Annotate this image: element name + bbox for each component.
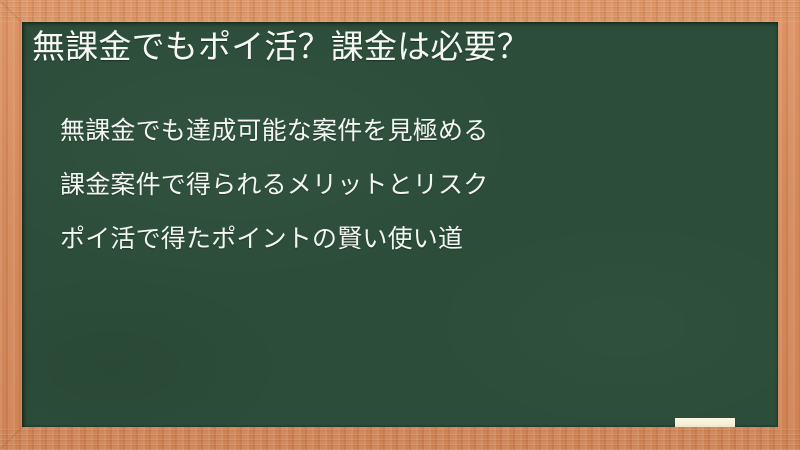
frame-miter-bottom-left bbox=[0, 425, 24, 450]
frame-grain-top bbox=[0, 0, 800, 22]
frame-miter-top-left bbox=[0, 0, 24, 25]
slide-bullet-list: 無課金でも達成可能な案件を見極める 課金案件で得られるメリットとリスク ポイ活で… bbox=[60, 104, 750, 266]
bullet-item-2: 課金案件で得られるメリットとリスク bbox=[60, 158, 750, 212]
frame-grain-bottom bbox=[0, 427, 800, 450]
bullet-item-3: ポイ活で得たポイントの賢い使い道 bbox=[60, 212, 750, 266]
chalkboard-surface: 無課金でもポイ活？課金は必要？ 無課金でも達成可能な案件を見極める 課金案件で得… bbox=[22, 22, 778, 427]
chalkboard-frame: 無課金でもポイ活？課金は必要？ 無課金でも達成可能な案件を見極める 課金案件で得… bbox=[0, 0, 800, 450]
slide-title: 無課金でもポイ活？課金は必要？ bbox=[32, 27, 732, 67]
bullet-item-1: 無課金でも達成可能な案件を見極める bbox=[60, 104, 750, 158]
chalk-stick bbox=[675, 418, 735, 427]
